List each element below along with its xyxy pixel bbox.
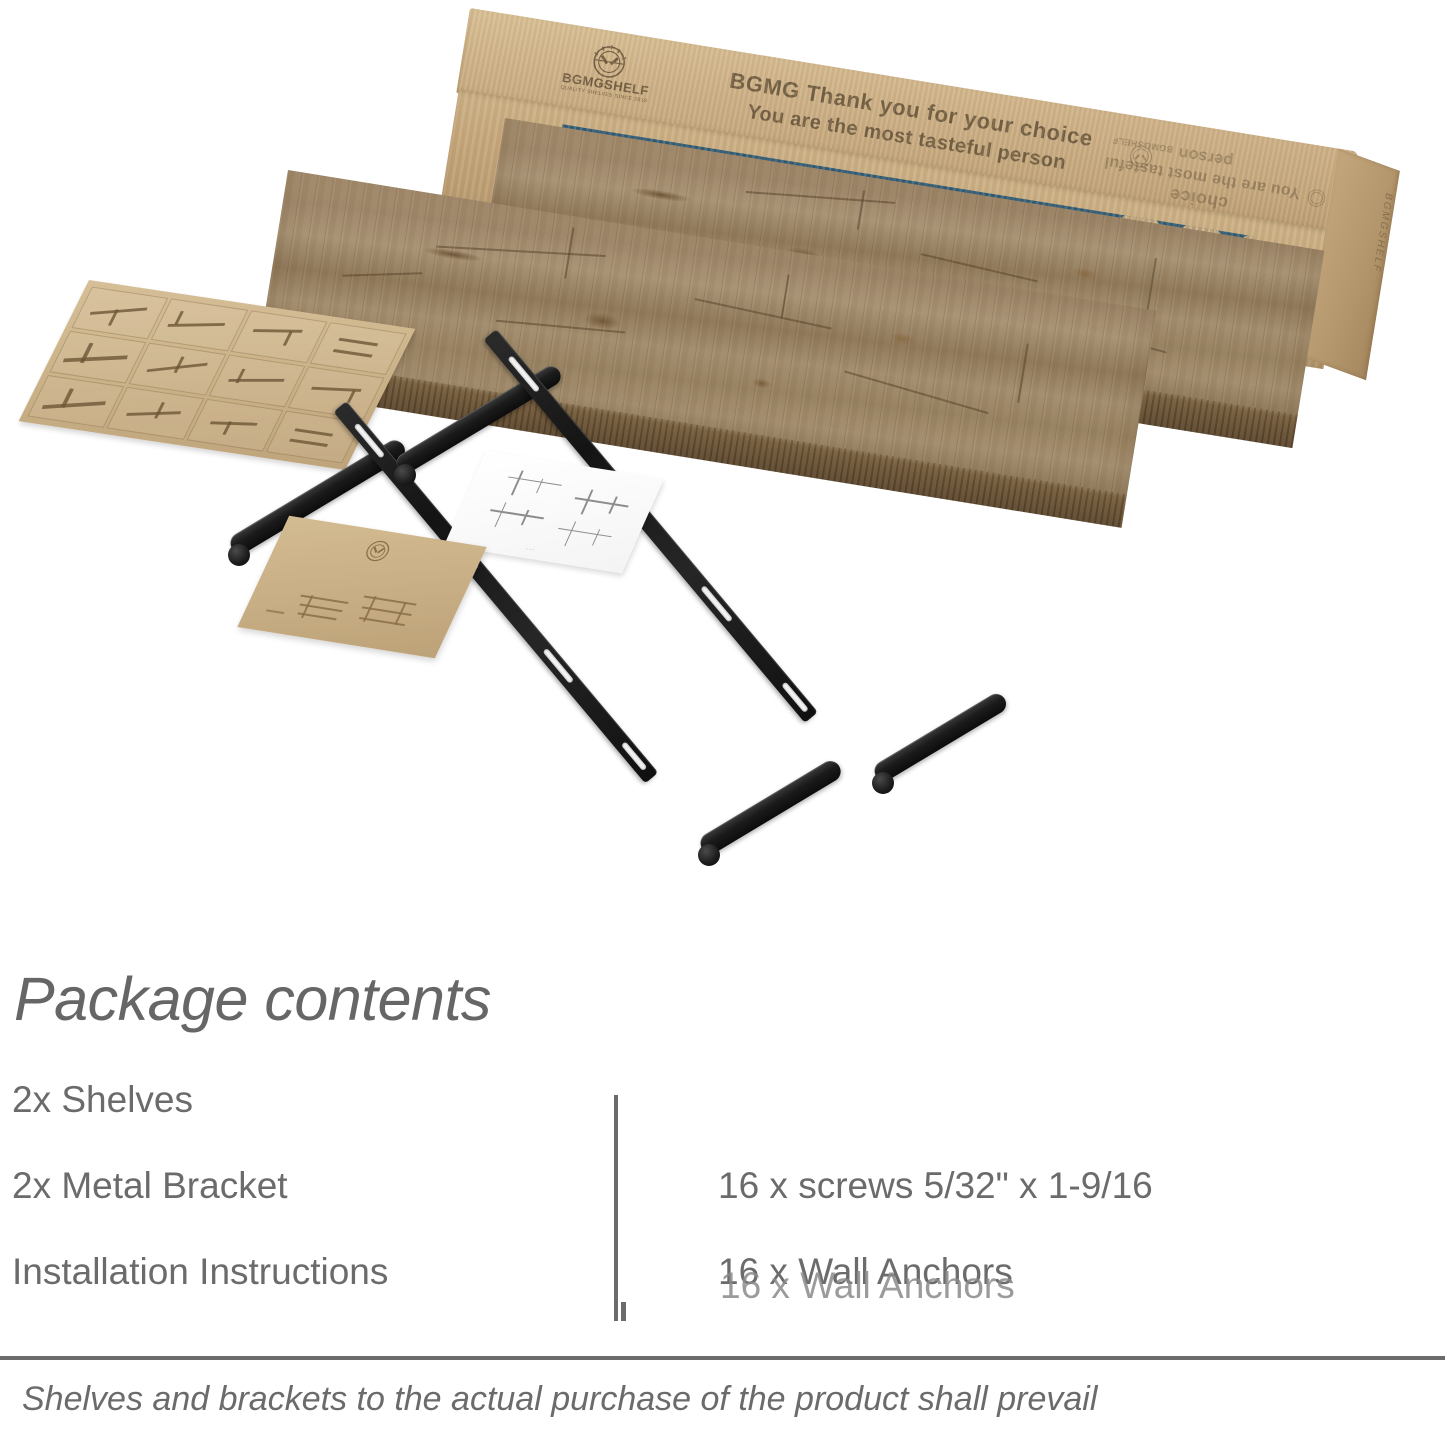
logo-bottom-text: QUALITY SHELVES SINCE 2018 bbox=[558, 84, 650, 105]
list-item: 2x Metal Bracket bbox=[12, 1166, 388, 1252]
card-diagram bbox=[569, 488, 633, 521]
bracket-rear-end-cap bbox=[872, 772, 894, 794]
logo-wordmark: BGMGSHELF bbox=[559, 69, 652, 99]
bgmgshelf-logo-icon: EST. BGMGSHELF QUALITY SHELVES SINCE 201… bbox=[558, 30, 659, 106]
list-item: 2x Shelves bbox=[12, 1080, 388, 1166]
bracket-front-rod-cap bbox=[228, 544, 250, 566]
horizontal-rule bbox=[0, 1356, 1445, 1360]
bracket-front-end-cap bbox=[698, 844, 720, 866]
card-diagram bbox=[551, 519, 615, 552]
list-item-label-duplicate: 16 x Wall Anchors bbox=[720, 1266, 1015, 1306]
carton-print-line-1: BGMG Thank you for your choice bbox=[727, 67, 1094, 154]
envelope-illustration bbox=[284, 580, 424, 645]
contents-list-left: 2x Shelves 2x Metal Bracket Installation… bbox=[12, 1080, 388, 1338]
list-item-spacer bbox=[718, 1080, 1153, 1166]
card-diagram bbox=[483, 501, 547, 534]
logo-wordmark-secondary: BGMGSHELF bbox=[1110, 135, 1175, 156]
bracket-rear-rod-cap bbox=[394, 464, 416, 486]
bracket-rear-end-rod bbox=[871, 690, 1010, 784]
package-contents-panel: Package contents 2x Shelves 2x Metal Bra… bbox=[0, 950, 1445, 1441]
bracket-rear-slot bbox=[700, 585, 733, 623]
instruction-panel bbox=[310, 322, 407, 375]
contents-list-right: 16 x screws 5/32" x 1-9/16 16 x Wall Anc… bbox=[718, 1080, 1153, 1338]
card-footnote: - - - bbox=[525, 546, 535, 553]
metal-bracket-rear bbox=[398, 374, 1078, 824]
product-photo: EST. BGMGSHELF QUALITY SHELVES SINCE 201… bbox=[0, 0, 1445, 950]
disclaimer-text: Shelves and brackets to the actual purch… bbox=[22, 1380, 1097, 1419]
logo-top-text: EST. bbox=[559, 75, 651, 96]
column-divider-tick bbox=[621, 1302, 626, 1321]
carton-end-code: BGMGSHELF bbox=[1370, 191, 1393, 275]
list-item: 16 x Wall Anchors 16 x Wall Anchors bbox=[718, 1252, 1153, 1338]
list-item: 16 x screws 5/32" x 1-9/16 bbox=[718, 1166, 1153, 1252]
column-divider bbox=[614, 1095, 618, 1321]
carton-print-line-2-mirrored: You are the most tasteful person bbox=[1082, 127, 1326, 206]
bracket-rear-slot bbox=[781, 682, 809, 713]
bgmgshelf-logo-icon-secondary: BGMGSHELF bbox=[1106, 126, 1177, 179]
envelope-scale-mark bbox=[266, 609, 285, 614]
card-diagram bbox=[501, 469, 565, 502]
page-title: Package contents bbox=[14, 964, 491, 1034]
envelope-logo-icon bbox=[356, 535, 399, 568]
list-item: Installation Instructions bbox=[12, 1252, 388, 1338]
bracket-front-slot bbox=[354, 423, 386, 459]
